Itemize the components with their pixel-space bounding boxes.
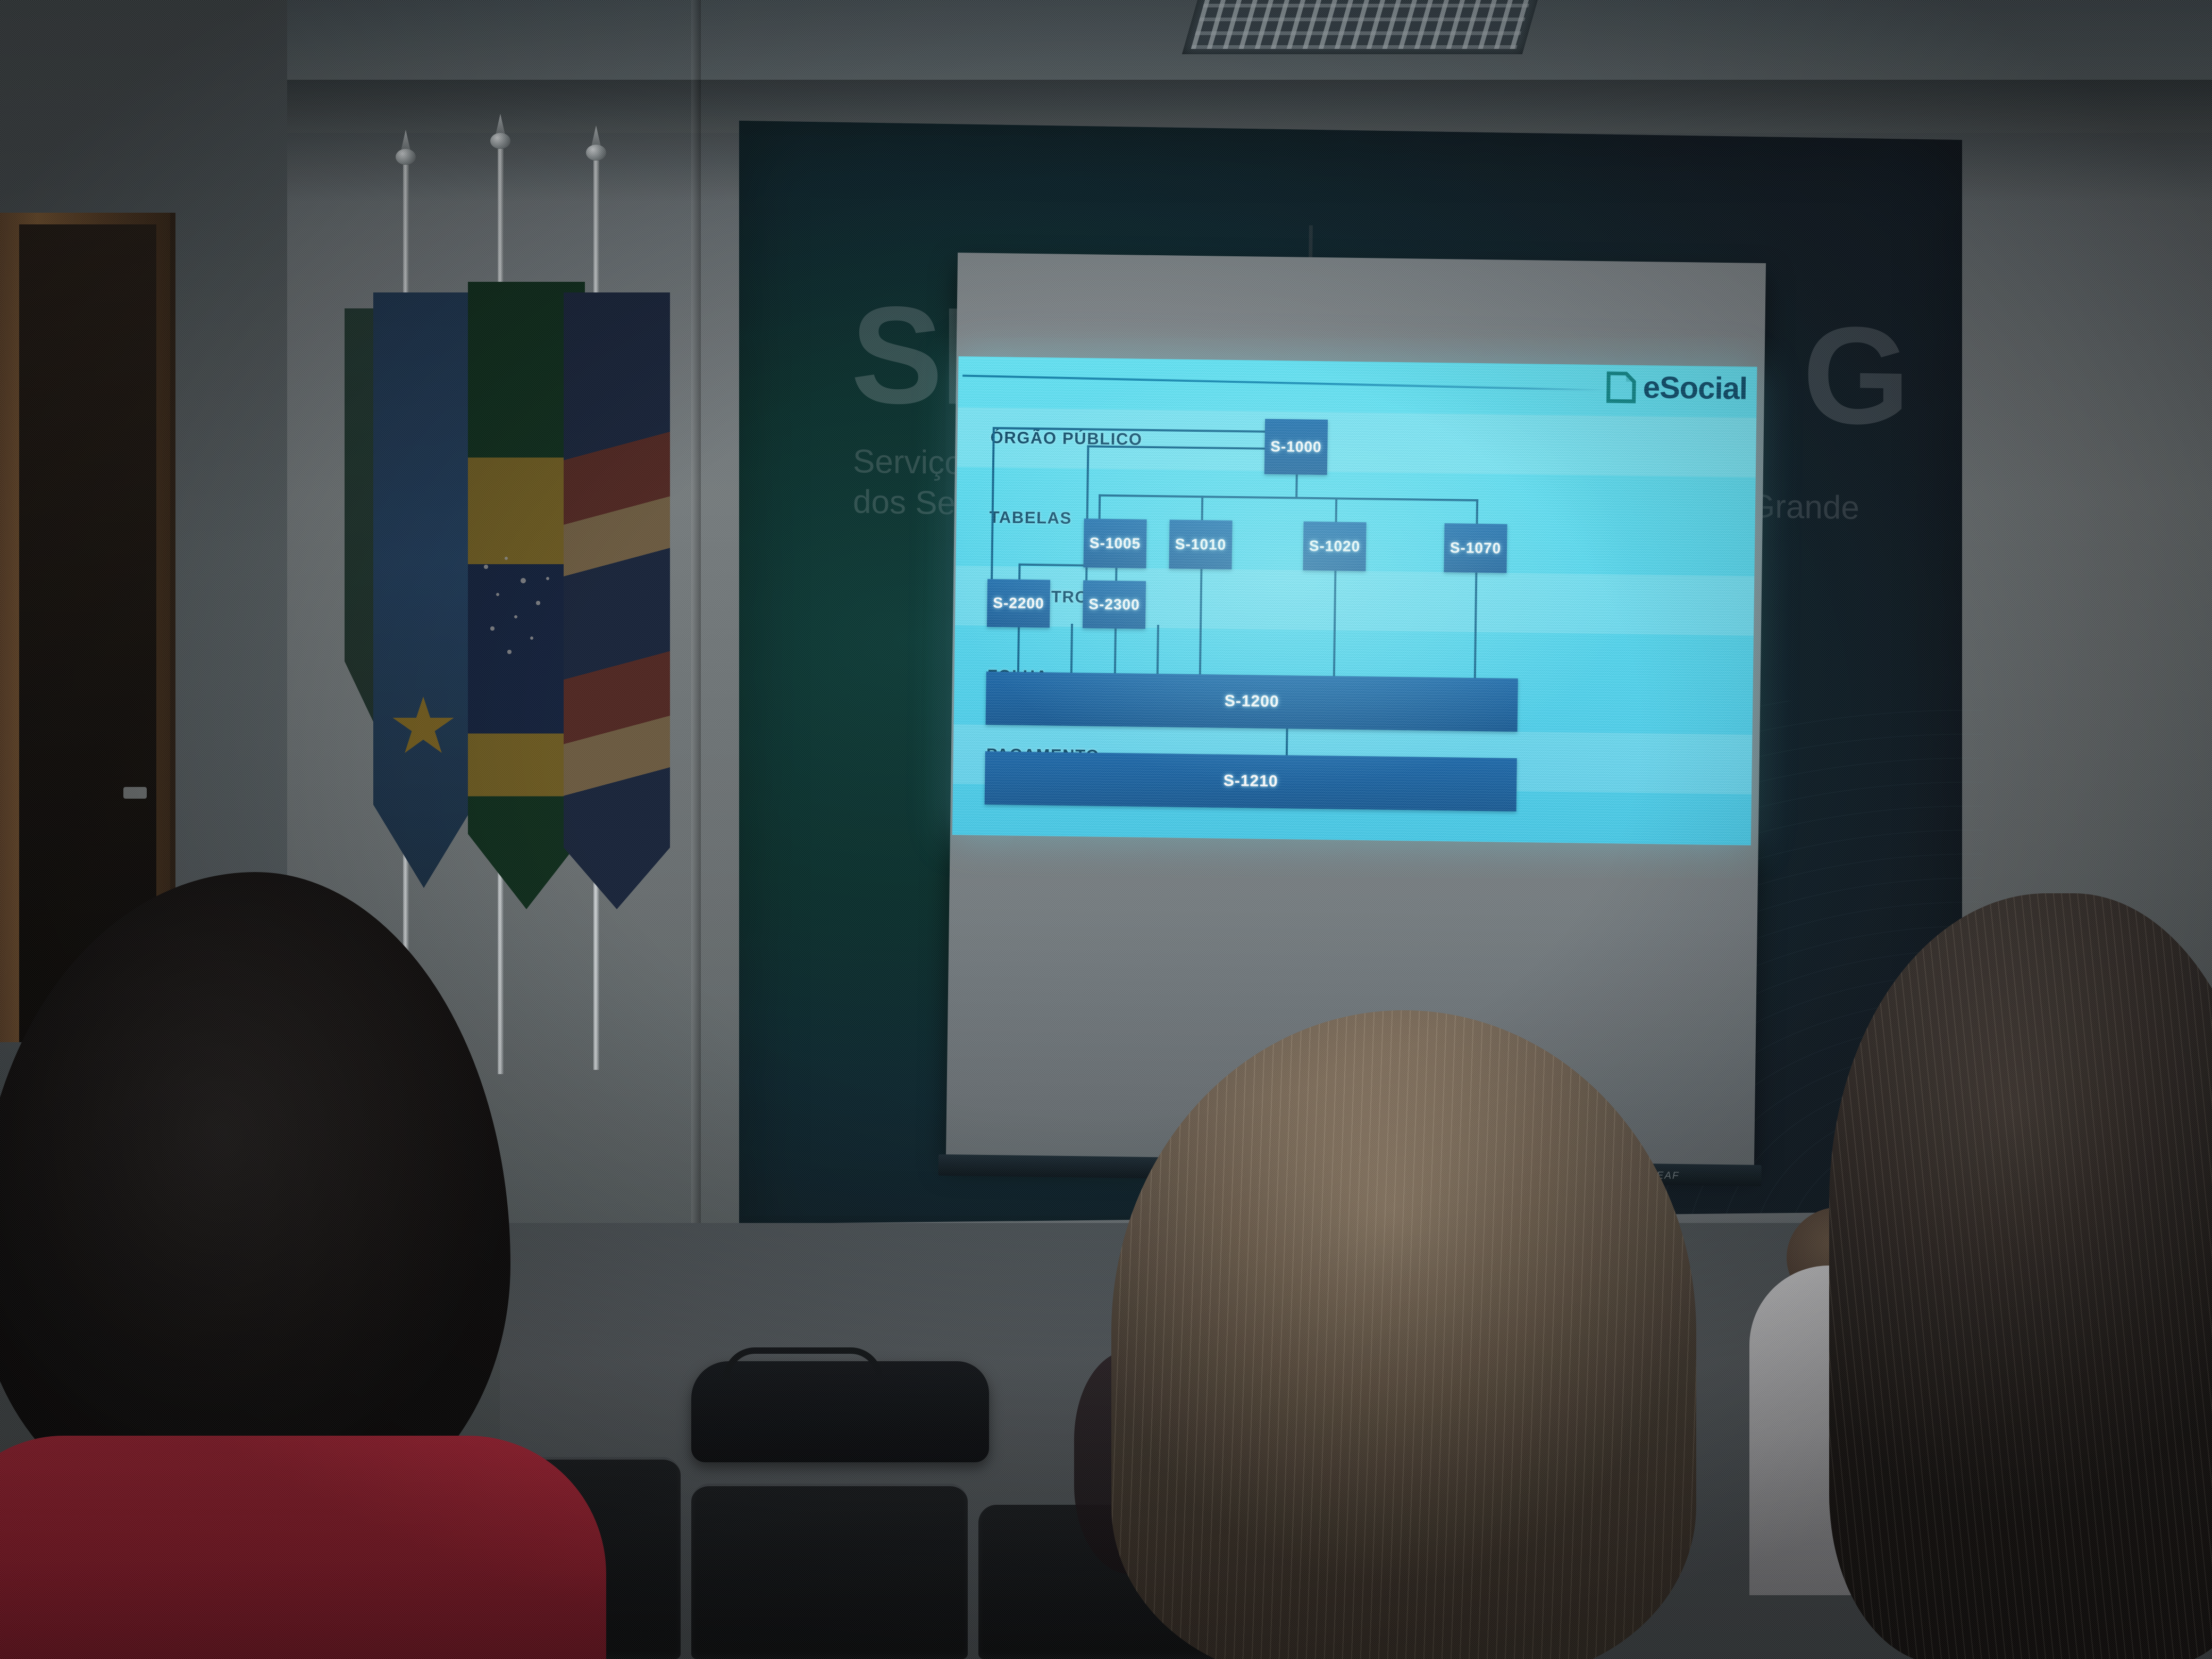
- esocial-wordmark: eSocial: [1643, 370, 1747, 407]
- hair-strands: [1829, 893, 2212, 1659]
- event-node-s1070[interactable]: S-1070: [1444, 523, 1507, 573]
- flag-finial: [488, 114, 513, 148]
- connector: [993, 427, 1273, 433]
- connector: [1286, 726, 1288, 755]
- flag-star-icon: [391, 697, 455, 757]
- connector: [1476, 499, 1479, 524]
- audience-member-foreground-right: [1829, 893, 2212, 1659]
- backpack-strap: [723, 1347, 883, 1379]
- connector: [1201, 496, 1204, 520]
- campo-grande-flag: [564, 292, 670, 909]
- event-node-s1000[interactable]: S-1000: [1264, 419, 1328, 475]
- connector: [1099, 495, 1478, 501]
- document-icon: [1605, 370, 1637, 405]
- connector: [1295, 474, 1298, 498]
- event-node-s2200[interactable]: S-2200: [987, 579, 1050, 628]
- event-node-s1210[interactable]: S-1210: [985, 751, 1517, 811]
- chair-rim: [691, 1484, 968, 1521]
- connector: [1335, 497, 1338, 522]
- connector: [1099, 495, 1101, 519]
- wall-corner: [691, 0, 701, 1329]
- audience-member-foreground-center: [1111, 1010, 1696, 1659]
- presentation-photo: SE G Serviço dos Se Grande eSocial: [0, 0, 2212, 1659]
- event-flow-diagram: S-1000 S-1005 S-1010 S-1020 S-1070 S-220…: [952, 407, 1756, 843]
- screen-mount: [1309, 225, 1313, 258]
- event-node-s1010[interactable]: S-1010: [1169, 520, 1232, 569]
- backdrop-logo-right: G: [1803, 313, 1907, 439]
- connector: [1157, 625, 1159, 674]
- connector: [991, 427, 995, 579]
- hair-strands: [1111, 1010, 1696, 1659]
- backdrop-subtitle-right: Grande: [1749, 488, 1859, 527]
- backdrop-subtitle-line1: Serviço: [853, 441, 963, 483]
- connector: [1017, 623, 1020, 672]
- event-node-s1020[interactable]: S-1020: [1303, 522, 1366, 572]
- audience-member-red-top: [0, 1436, 606, 1659]
- flag-finial: [584, 125, 608, 160]
- event-node-s1200[interactable]: S-1200: [986, 672, 1518, 732]
- slide-header-rule: [962, 374, 1606, 391]
- event-node-s1005[interactable]: S-1005: [1083, 518, 1146, 568]
- event-node-s2300[interactable]: S-2300: [1083, 580, 1146, 629]
- esocial-logo: eSocial: [1605, 369, 1747, 406]
- connector: [1070, 624, 1073, 673]
- mato-grosso-do-sul-flag: [373, 292, 474, 888]
- connector: [1087, 445, 1273, 450]
- connector: [1018, 564, 1020, 580]
- backdrop-subtitle: Serviço dos Se: [853, 441, 963, 523]
- door-handle[interactable]: [123, 787, 147, 799]
- projected-slide: eSocial ÓRGÃO PÚBLICO TABELAS CADASTRO F…: [952, 356, 1757, 845]
- flag-finial: [393, 130, 418, 164]
- ceiling-vent: [1182, 0, 1540, 54]
- backdrop-subtitle-line2: dos Se: [853, 482, 963, 524]
